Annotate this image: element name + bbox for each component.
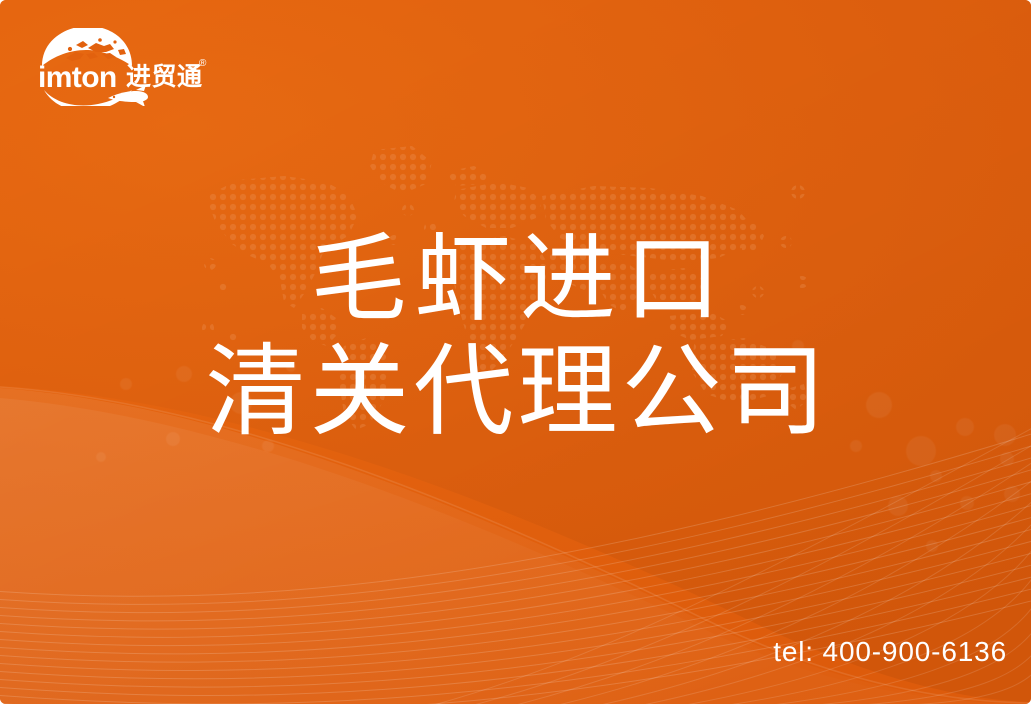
promo-banner: imton 进贸通 ® 毛虾进口 清关代理公司 tel: 400-900-613… — [0, 0, 1031, 704]
headline-line-2: 清关代理公司 — [0, 342, 1031, 442]
contact-telephone[interactable]: tel: 400-900-6136 — [773, 636, 1007, 668]
company-logo[interactable]: imton 进贸通 ® — [36, 28, 216, 106]
logo-wordmark: imton — [38, 61, 117, 94]
registered-trademark-icon: ® — [199, 58, 207, 69]
logo-chinese-name: 进贸通 — [126, 63, 203, 91]
headline-line-1: 毛虾进口 — [0, 232, 1031, 328]
headline: 毛虾进口 清关代理公司 — [0, 232, 1031, 442]
